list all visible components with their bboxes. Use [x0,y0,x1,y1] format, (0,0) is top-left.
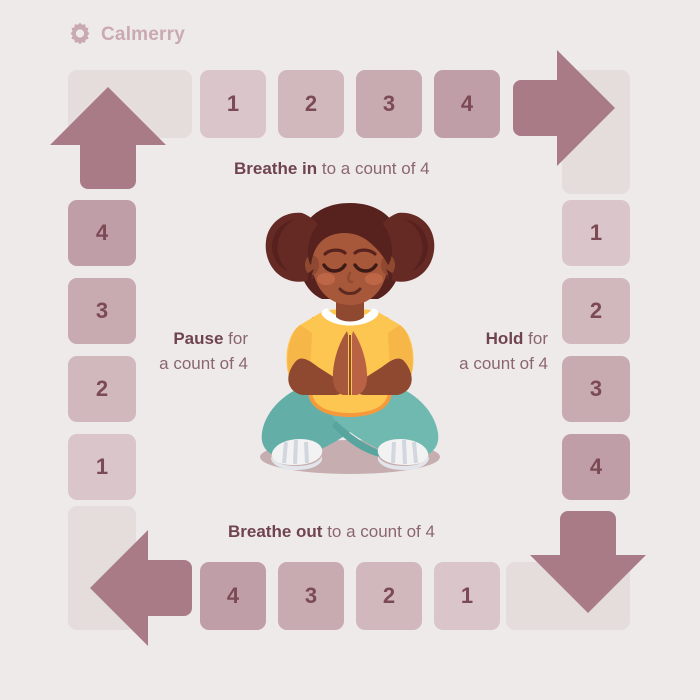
pause-label: Pause for a count of 4 [100,327,248,376]
count-box-left-1[interactable]: 1 [68,434,136,500]
count-box-label: 3 [305,583,317,609]
breathe-out-label: Breathe out to a count of 4 [228,522,435,542]
breathe-in-label: Breathe in to a count of 4 [234,159,430,179]
arrow-right-icon [512,48,617,168]
count-box-bottom-2[interactable]: 2 [356,562,422,630]
pause-label-line1: Pause for [100,327,248,352]
pause-label-bold: Pause [173,329,223,348]
arrow-left-icon [88,528,193,648]
count-box-right-4[interactable]: 4 [562,434,630,500]
count-box-top-2[interactable]: 2 [278,70,344,138]
count-box-label: 4 [96,220,108,246]
breathe-out-label-bold: Breathe out [228,522,322,541]
count-box-label: 4 [227,583,239,609]
hold-label-bold: Hold [486,329,524,348]
infographic-canvas: Calmerry 1 2 3 4 1 2 3 4 4 3 2 1 4 [0,0,700,700]
count-box-bottom-1[interactable]: 1 [434,562,500,630]
brand-logo: Calmerry [68,22,185,46]
cheek-left [317,273,335,285]
flower-gear-icon [68,22,92,46]
count-box-bottom-3[interactable]: 3 [278,562,344,630]
count-box-left-4[interactable]: 4 [68,200,136,266]
count-box-right-3[interactable]: 3 [562,356,630,422]
cheek-right [365,273,383,285]
arrow-up-icon [48,85,168,190]
brand-name: Calmerry [101,25,185,44]
pause-label-line2: a count of 4 [100,352,248,377]
count-box-label: 1 [590,220,602,246]
count-box-right-1[interactable]: 1 [562,200,630,266]
count-box-top-4[interactable]: 4 [434,70,500,138]
count-box-label: 3 [383,91,395,117]
arrow-down-icon [528,510,648,615]
count-box-label: 4 [590,454,602,480]
hold-label-rest: for [523,329,548,348]
meditating-person-illustration [240,195,460,485]
count-box-right-2[interactable]: 2 [562,278,630,344]
count-box-label: 2 [383,583,395,609]
count-box-label: 1 [96,454,108,480]
hand-crease [349,335,351,395]
count-box-top-3[interactable]: 3 [356,70,422,138]
breathe-in-label-rest: to a count of 4 [317,159,429,178]
breathe-in-label-bold: Breathe in [234,159,317,178]
count-box-label: 4 [461,91,473,117]
count-box-label: 3 [96,298,108,324]
count-box-label: 3 [590,376,602,402]
count-box-label: 1 [227,91,239,117]
count-box-label: 1 [461,583,473,609]
count-box-bottom-4[interactable]: 4 [200,562,266,630]
count-box-label: 2 [590,298,602,324]
count-box-label: 2 [96,376,108,402]
count-box-top-1[interactable]: 1 [200,70,266,138]
count-box-label: 2 [305,91,317,117]
breathe-out-label-rest: to a count of 4 [322,522,434,541]
